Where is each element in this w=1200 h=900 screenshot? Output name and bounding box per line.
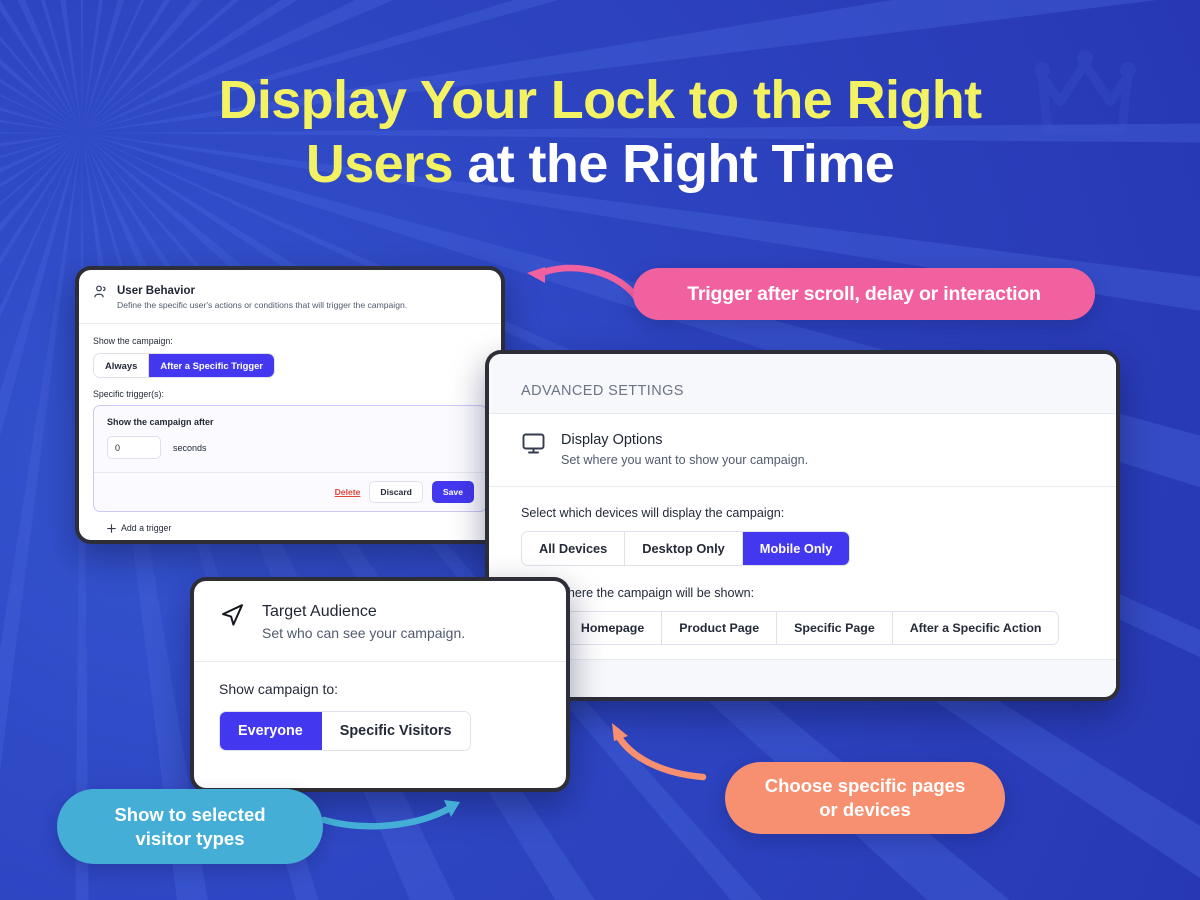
specific-triggers-label: Specific trigger(s):	[93, 389, 487, 399]
target-audience-card: Target Audience Set who can see your cam…	[190, 577, 570, 792]
page-title: Display Your Lock to the Right Users at …	[0, 68, 1200, 196]
headline-line-2: Users at the Right Time	[0, 132, 1200, 196]
save-button[interactable]: Save	[432, 481, 474, 503]
trigger-seconds-input[interactable]	[107, 436, 161, 459]
monitor-icon	[521, 431, 546, 456]
audience-segmented-control[interactable]: EveryoneSpecific Visitors	[219, 711, 471, 751]
user-behavior-subtitle: Define the specific user's actions or co…	[117, 299, 407, 311]
devices-label: Select which devices will display the ca…	[521, 506, 1116, 520]
callout-visitors-line1: Show to selected	[114, 804, 265, 825]
teal-curved-arrow-icon	[318, 792, 468, 844]
audience-option-1[interactable]: Specific Visitors	[322, 712, 470, 750]
device-option-1[interactable]: Desktop Only	[625, 532, 743, 565]
trigger-unit-label: seconds	[173, 443, 207, 453]
delete-button[interactable]: Delete	[335, 487, 361, 497]
user-behavior-card: User Behavior Define the specific user's…	[75, 266, 505, 544]
advanced-settings-title-bar: ADVANCED SETTINGS	[489, 354, 1116, 414]
callout-pages-line2: or devices	[819, 799, 911, 820]
device-option-0[interactable]: All Devices	[522, 532, 625, 565]
navigation-arrow-icon	[219, 601, 246, 628]
target-audience-subtitle: Set who can see your campaign.	[262, 624, 465, 643]
headline-line2-white: at the Right Time	[467, 134, 894, 194]
add-trigger-button[interactable]: Add a trigger	[93, 512, 487, 533]
audience-option-0[interactable]: Everyone	[220, 712, 322, 750]
device-option-2[interactable]: Mobile Only	[743, 532, 850, 565]
pages-segmented-control[interactable]: sHomepageProduct PageSpecific PageAfter …	[521, 611, 1059, 645]
show-campaign-label: Show the campaign:	[93, 336, 487, 346]
callout-pages-pill: Choose specific pages or devices	[725, 762, 1005, 834]
users-icon	[93, 284, 108, 299]
page-option-2[interactable]: Product Page	[662, 612, 777, 644]
show-campaign-segmented-control[interactable]: AlwaysAfter a Specific Trigger	[93, 353, 275, 378]
callout-visitors-pill: Show to selected visitor types	[57, 789, 323, 864]
callout-trigger-text: Trigger after scroll, delay or interacti…	[687, 283, 1041, 306]
add-trigger-label: Add a trigger	[121, 523, 171, 533]
headline-line-1: Display Your Lock to the Right	[0, 68, 1200, 132]
advanced-settings-card: ADVANCED SETTINGS Display Options Set wh…	[485, 350, 1120, 701]
callout-pages-line1: Choose specific pages	[765, 775, 965, 796]
display-options-header: Display Options Set where you want to sh…	[489, 414, 1116, 487]
headline-line2-yellow: Users	[306, 134, 453, 194]
page-option-1[interactable]: Homepage	[564, 612, 662, 644]
page-option-4[interactable]: After a Specific Action	[893, 612, 1059, 644]
callout-trigger-pill: Trigger after scroll, delay or interacti…	[633, 268, 1095, 320]
trigger-title: Show the campaign after	[94, 406, 486, 427]
trigger-box: Show the campaign after seconds Delete D…	[93, 405, 487, 512]
pages-label: pages where the campaign will be shown:	[521, 586, 1116, 600]
display-options-subtitle: Set where you want to show your campaign…	[561, 452, 808, 469]
orange-curved-arrow-icon	[595, 714, 715, 794]
device-segmented-control[interactable]: All DevicesDesktop OnlyMobile Only	[521, 531, 850, 566]
show-campaign-option-1[interactable]: After a Specific Trigger	[149, 354, 274, 377]
advanced-settings-title: ADVANCED SETTINGS	[521, 383, 1116, 399]
user-behavior-header: User Behavior Define the specific user's…	[79, 270, 501, 324]
target-audience-title: Target Audience	[262, 601, 465, 622]
advanced-settings-footer	[489, 659, 1116, 697]
show-campaign-to-label: Show campaign to:	[219, 681, 566, 697]
discard-button[interactable]: Discard	[369, 481, 423, 503]
pink-curved-arrow-icon	[515, 258, 640, 330]
display-options-title: Display Options	[561, 431, 808, 450]
headline-line1-yellow: Display Your Lock to the Right	[218, 70, 981, 130]
callout-visitors-line2: visitor types	[136, 828, 245, 849]
plus-icon	[107, 524, 116, 533]
show-campaign-option-0[interactable]: Always	[94, 354, 149, 377]
user-behavior-title: User Behavior	[117, 284, 407, 298]
target-audience-header: Target Audience Set who can see your cam…	[194, 581, 566, 662]
page-option-3[interactable]: Specific Page	[777, 612, 893, 644]
